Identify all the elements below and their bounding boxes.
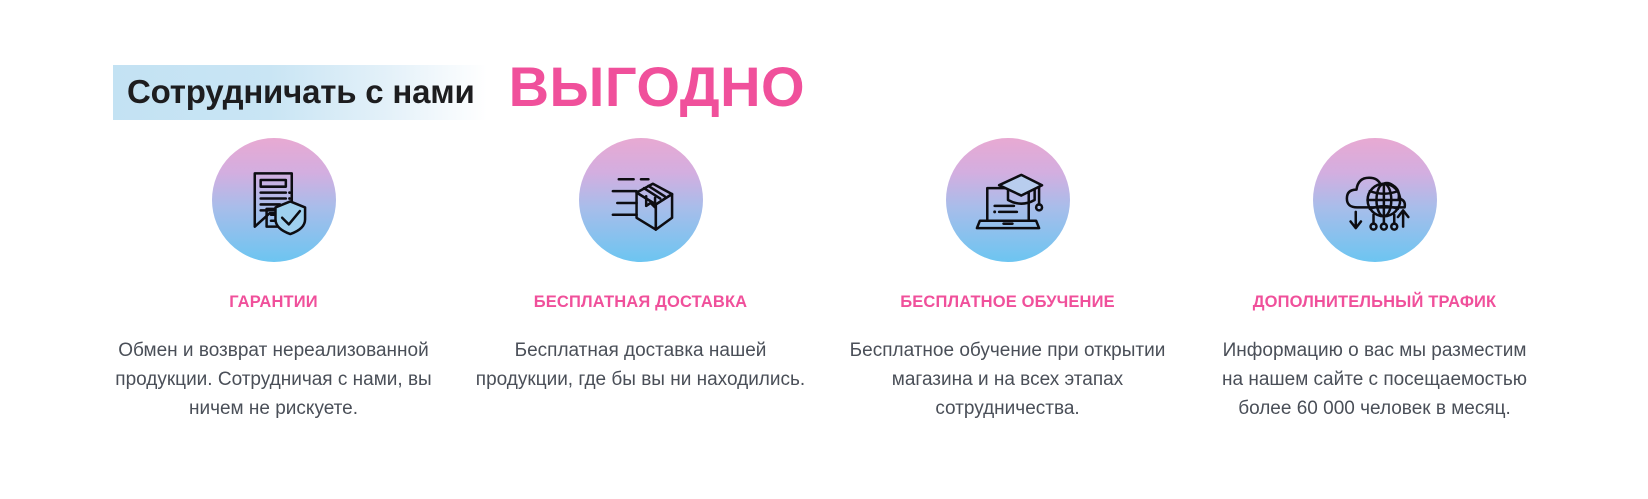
feature-item: БЕСПЛАТНАЯ ДОСТАВКА Бесплатная доставка … — [457, 138, 824, 423]
feature-item: ДОПОЛНИТЕЛЬНЫЙ ТРАФИК Информацию о вас м… — [1191, 138, 1558, 423]
delivery-box-speed-icon — [604, 163, 678, 237]
feature-list: ГАРАНТИИ Обмен и возврат нереализованной… — [90, 138, 1560, 423]
feature-icon-circle — [1313, 138, 1437, 262]
feature-title: БЕСПЛАТНАЯ ДОСТАВКА — [534, 293, 747, 313]
heading-accent-text: ВЫГОДНО — [509, 59, 806, 115]
feature-title: БЕСПЛАТНОЕ ОБУЧЕНИЕ — [900, 293, 1115, 313]
feature-description: Бесплатное обучение при открытии магазин… — [843, 337, 1173, 424]
feature-icon-circle — [579, 138, 703, 262]
cloud-globe-traffic-icon — [1338, 163, 1412, 237]
section-heading: Сотрудничать с нами ВЫГОДНО — [113, 56, 805, 120]
heading-highlight-text: Сотрудничать с нами — [113, 65, 487, 120]
laptop-graduation-cap-icon — [971, 163, 1045, 237]
feature-icon-circle — [946, 138, 1070, 262]
feature-description: Обмен и возврат нереализованной продукци… — [109, 337, 439, 424]
feature-description: Информацию о вас мы разместим на нашем с… — [1210, 337, 1540, 424]
feature-title: ГАРАНТИИ — [229, 293, 318, 313]
document-shield-check-icon — [237, 163, 311, 237]
feature-item: ГАРАНТИИ Обмен и возврат нереализованной… — [90, 138, 457, 423]
feature-description: Бесплатная доставка нашей продукции, где… — [476, 337, 806, 395]
promo-benefits-section: Сотрудничать с нами ВЫГОДНО — [0, 0, 1648, 499]
feature-title: ДОПОЛНИТЕЛЬНЫЙ ТРАФИК — [1253, 293, 1497, 313]
feature-icon-circle — [212, 138, 336, 262]
feature-item: БЕСПЛАТНОЕ ОБУЧЕНИЕ Бесплатное обучение … — [824, 138, 1191, 423]
